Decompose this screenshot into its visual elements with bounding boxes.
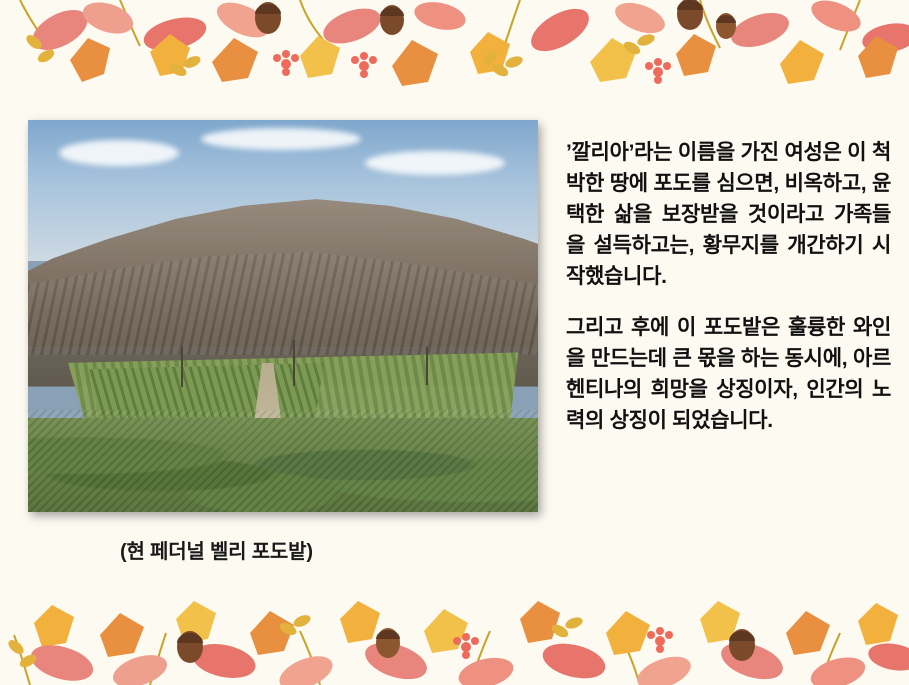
fence-pole-2 (293, 340, 295, 386)
body-text-block: ’깔리아’라는 이름을 가진 여성은 이 척박한 땅에 포도를 심으면, 비옥하… (566, 137, 891, 436)
fence-pole-1 (181, 347, 183, 387)
fence-pole-3 (426, 347, 428, 385)
bottom-decorative-border (0, 585, 909, 685)
vineyard-photo (28, 120, 538, 512)
autumn-leaves-top-svg (0, 0, 909, 98)
paragraph-1: ’깔리아’라는 이름을 가진 여성은 이 척박한 땅에 포도를 심으면, 비옥하… (566, 137, 891, 292)
cloud-2 (201, 128, 361, 150)
autumn-leaves-bottom-svg (0, 585, 909, 685)
top-decorative-border (0, 0, 909, 98)
paragraph-2: 그리고 후에 이 포도밭은 훌륭한 와인을 만드는데 큰 몫을 하는 동시에, … (566, 312, 891, 436)
photo-caption: (현 페더널 벨리 포도밭) (120, 535, 520, 564)
slide: (현 페더널 벨리 포도밭) ’깔리아’라는 이름을 가진 여성은 이 척박한 … (0, 0, 909, 685)
cloud-1 (59, 140, 179, 166)
foreground-scrub-texture (28, 410, 538, 512)
